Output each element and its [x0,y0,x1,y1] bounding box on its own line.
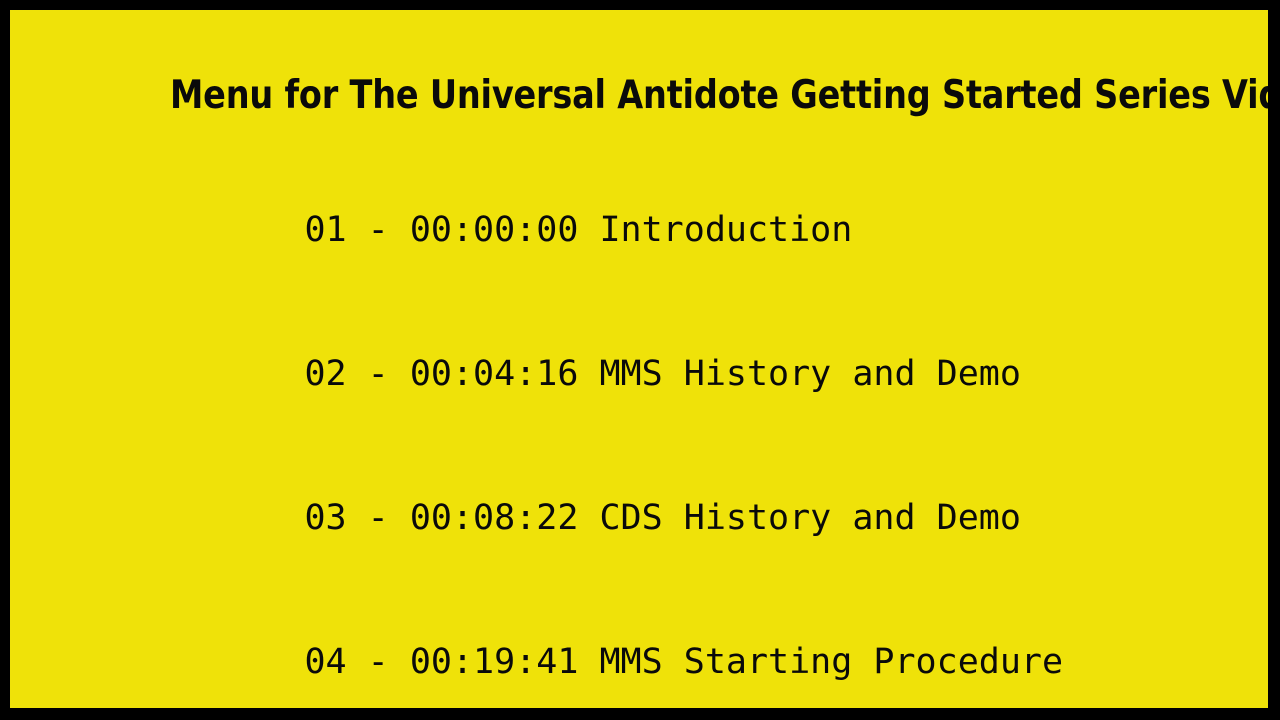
chapter-timestamp: 00:08:22 [410,498,579,538]
chapter-separator: - [347,642,410,682]
chapter-number: 04 [304,642,346,682]
chapter-number: 01 [304,210,346,250]
chapter-timestamp: 00:19:41 [410,642,579,682]
list-item[interactable]: 01 - 00:00:00 Introduction [178,158,1211,302]
list-item[interactable]: 04 - 00:19:41 MMS Starting Procedure [178,590,1211,708]
chapter-separator: - [347,210,410,250]
chapter-timestamp: 00:04:16 [410,354,579,394]
chapter-label: MMS History and Demo [599,354,1020,394]
chapter-label: Introduction [599,210,852,250]
chapter-menu-list: 01 - 00:00:00 Introduction 02 - 00:04:16… [178,158,1211,708]
list-item[interactable]: 02 - 00:04:16 MMS History and Demo [178,302,1211,446]
chapter-timestamp: 00:00:00 [410,210,579,250]
chapter-separator: - [347,498,410,538]
page-title: Menu for The Universal Antidote Getting … [170,74,1268,118]
list-item[interactable]: 03 - 00:08:22 CDS History and Demo [178,446,1211,590]
chapter-separator: - [347,354,410,394]
video-menu-slide: Menu for The Universal Antidote Getting … [10,10,1268,708]
chapter-number: 03 [304,498,346,538]
chapter-label: CDS History and Demo [599,498,1020,538]
chapter-number: 02 [304,354,346,394]
chapter-label: MMS Starting Procedure [599,642,1063,682]
